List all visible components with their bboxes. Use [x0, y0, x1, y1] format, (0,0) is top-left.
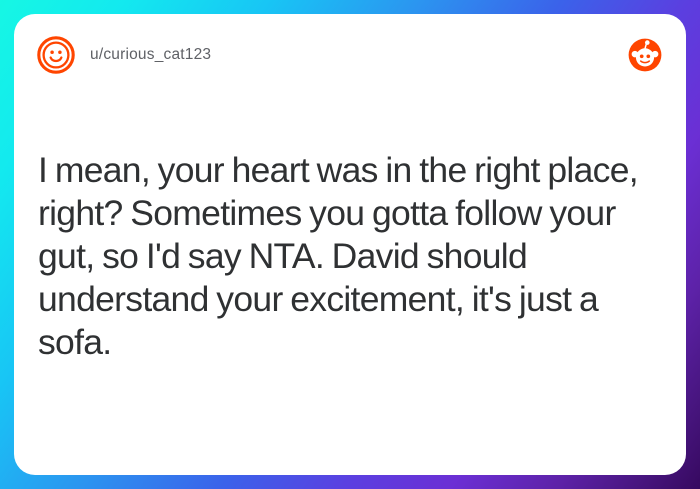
reddit-logo[interactable]	[628, 38, 662, 72]
card-body: I mean, your heart was in the right plac…	[14, 149, 686, 364]
author-username: u/curious_cat123	[90, 46, 211, 64]
card-header: u/curious_cat123	[14, 14, 686, 96]
comment-body-text: I mean, your heart was in the right plac…	[38, 149, 656, 364]
reddit-snoo-icon	[628, 38, 662, 72]
screenshot-root: u/curious_cat123 I mean, your heart was …	[0, 0, 700, 489]
smiley-face-icon	[36, 35, 76, 75]
avatar[interactable]	[36, 35, 76, 75]
reddit-comment-card: u/curious_cat123 I mean, your heart was …	[14, 14, 686, 475]
